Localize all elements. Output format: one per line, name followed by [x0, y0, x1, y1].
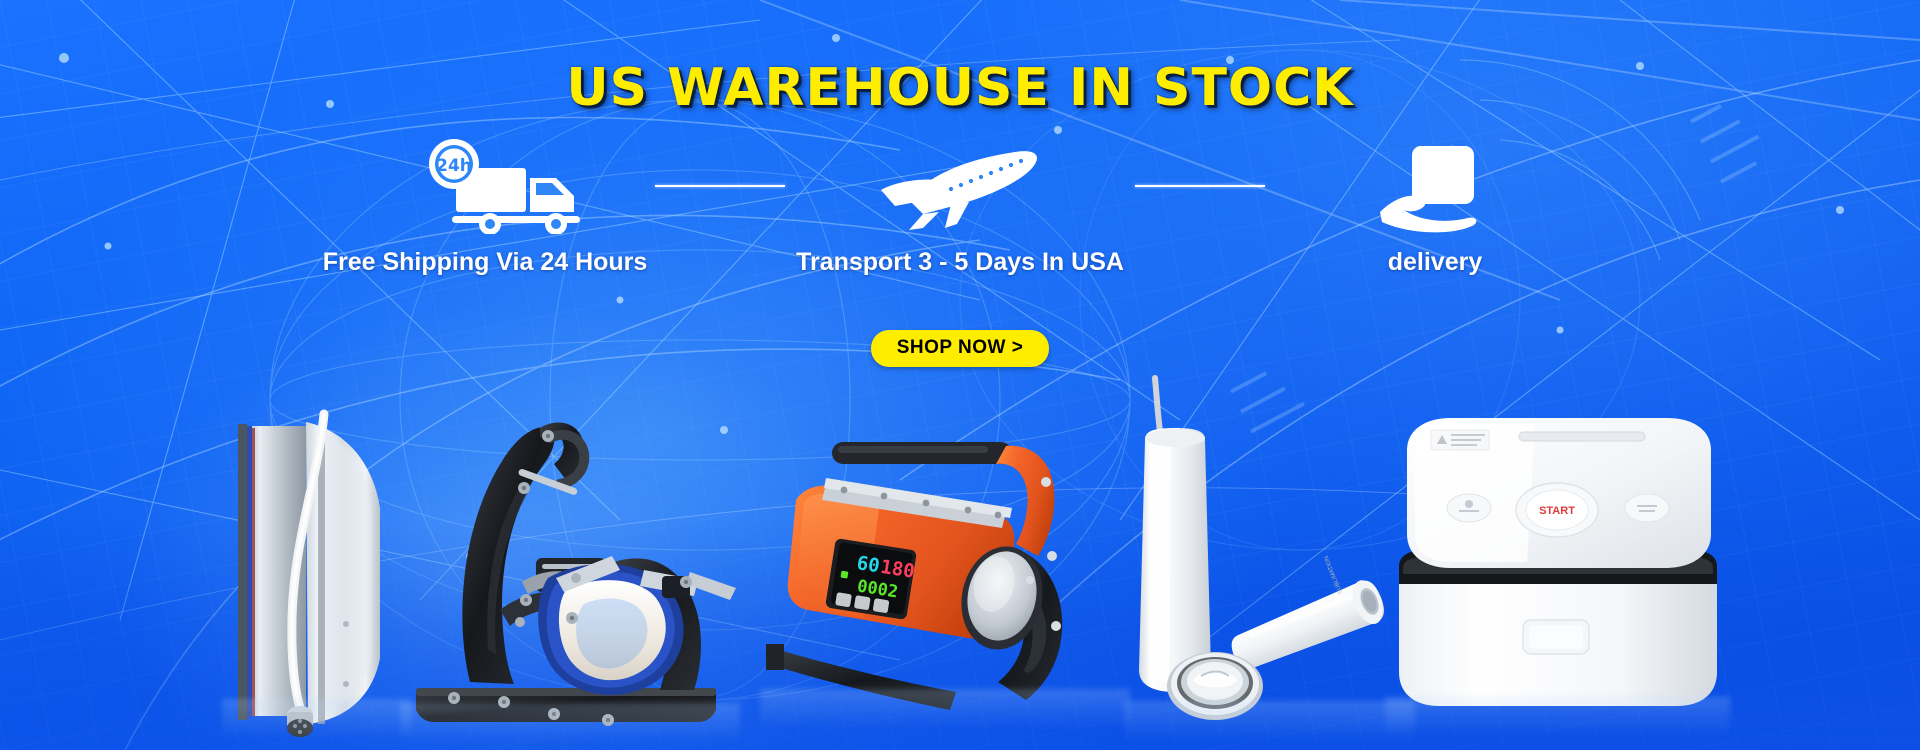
connector-line-2	[1130, 138, 1270, 234]
press-display-panel: 60 180 0002	[825, 538, 917, 620]
left-button[interactable]	[1447, 494, 1491, 522]
product-black-mug-press	[400, 372, 740, 742]
product-heating-element	[222, 408, 412, 738]
feature-delivery: delivery	[1270, 138, 1600, 277]
feature-label: Free Shipping Via 24 Hours	[320, 248, 650, 277]
right-button[interactable]	[1625, 494, 1669, 522]
page-title: US WAREHOUSE IN STOCK	[0, 58, 1920, 118]
hand-package-icon	[1270, 138, 1600, 234]
start-button[interactable]: START	[1516, 483, 1598, 537]
product-showcase: 60 180 0002	[0, 320, 1920, 750]
start-button-label: START	[1539, 505, 1575, 517]
feature-transport: Transport 3 - 5 Days In USA	[790, 138, 1130, 277]
feature-label: delivery	[1270, 248, 1600, 277]
promo-banner: US WAREHOUSE IN STOCK	[0, 0, 1920, 750]
product-white-tumblers: SUBLIMATION	[1125, 370, 1415, 740]
truck-24h-icon: 24h	[320, 138, 650, 234]
features-row: 24h Free Shipping Via 24 Hours	[0, 138, 1920, 277]
feature-free-shipping: 24h Free Shipping Via 24 Hours	[320, 138, 650, 277]
product-orange-mug-press: 60 180 0002	[760, 438, 1130, 728]
product-white-cooker: START	[1385, 406, 1730, 736]
connector-line-1	[650, 138, 790, 234]
display-temperature: 60	[855, 552, 881, 577]
svg-text:SUBLIMATION: SUBLIMATION	[1324, 555, 1345, 595]
feature-label: Transport 3 - 5 Days In USA	[790, 248, 1130, 277]
svg-text:24h: 24h	[436, 156, 472, 176]
airplane-icon	[790, 138, 1130, 234]
